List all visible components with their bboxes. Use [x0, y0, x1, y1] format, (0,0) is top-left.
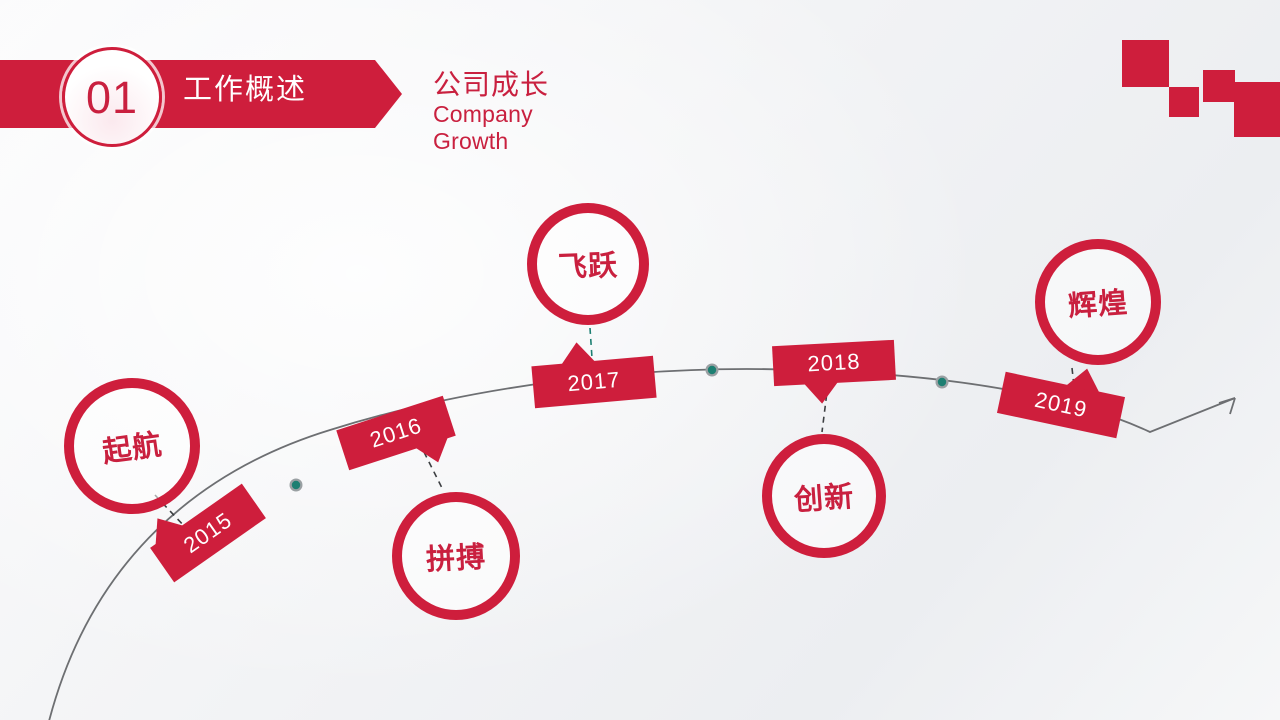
title-english-line2: Growth	[433, 128, 549, 155]
section-number-badge: 01	[62, 47, 162, 147]
section-number-text: 01	[86, 75, 138, 120]
milestone-circle-2016[interactable]: 拼搏	[392, 492, 520, 620]
slide-canvas: 01 工作概述 公司成长 Company Growth	[0, 0, 1280, 720]
corner-square-2	[1169, 87, 1199, 117]
year-tag-notch-icon	[560, 341, 596, 365]
milestone-circle-2019[interactable]: 辉煌	[1035, 239, 1161, 365]
corner-square-4	[1234, 82, 1280, 137]
corner-square-3	[1203, 70, 1235, 102]
corner-square-1	[1122, 40, 1169, 87]
milestone-circle-2018[interactable]: 创新	[762, 434, 886, 558]
year-tag-label-2019: 2019	[1032, 387, 1089, 423]
milestone-label-2019: 辉煌	[1067, 279, 1130, 325]
milestone-label-2016: 拼搏	[425, 533, 487, 578]
milestone-circle-2017[interactable]: 飞跃	[527, 203, 649, 325]
milestone-label-2017: 飞跃	[557, 242, 618, 286]
year-tag-notch-icon	[804, 382, 839, 405]
title-chinese: 公司成长	[433, 68, 549, 101]
year-tag-label-2017: 2017	[566, 367, 621, 398]
year-tag-label-2018: 2018	[807, 349, 861, 378]
milestone-label-2015: 起航	[99, 421, 164, 471]
section-label-text: 工作概述	[183, 76, 307, 105]
header-ribbon-arrow-icon	[375, 60, 402, 128]
title-english-line1: Company	[433, 101, 549, 128]
milestone-label-2018: 创新	[793, 473, 856, 519]
year-tag-2018[interactable]: 2018	[772, 340, 896, 386]
page-title: 公司成长 Company Growth	[433, 68, 549, 155]
milestone-circle-2015[interactable]: 起航	[64, 378, 200, 514]
